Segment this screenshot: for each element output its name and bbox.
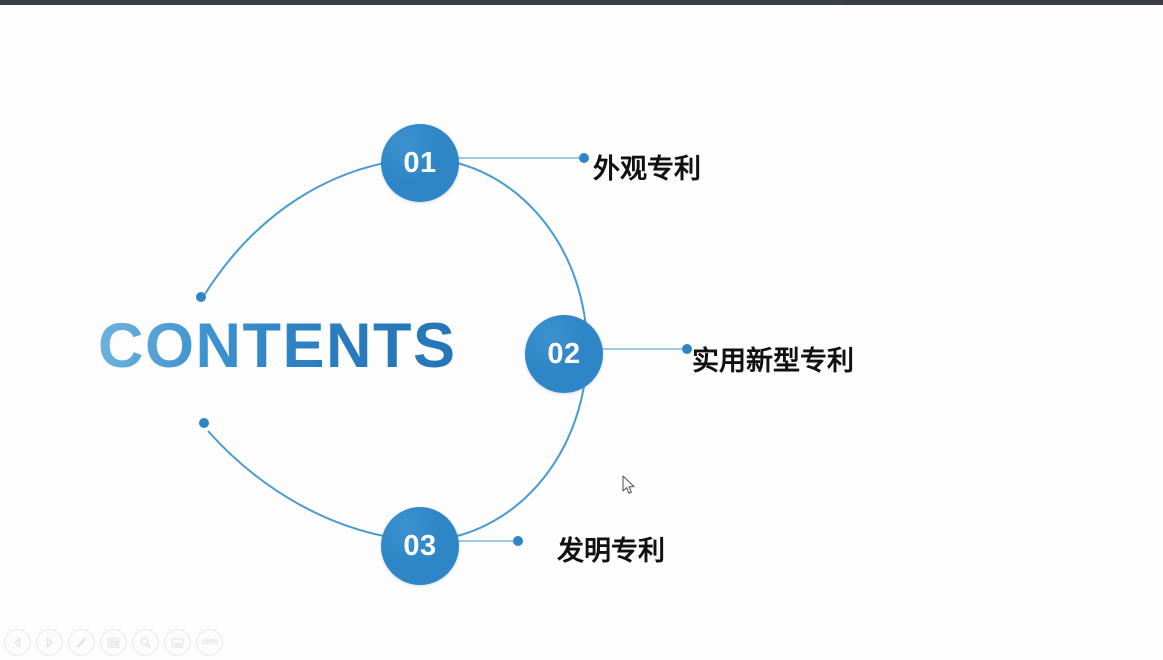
contents-node-02[interactable]: 02 xyxy=(525,315,603,393)
presentation-toolbar[interactable]: 100% xyxy=(4,629,223,656)
zoom-level-indicator[interactable]: 100% xyxy=(196,629,223,656)
contents-node-03[interactable]: 03 xyxy=(381,507,459,585)
ring-endpoint-dot-top xyxy=(196,292,206,302)
next-slide-button[interactable] xyxy=(36,629,63,656)
zoom-level-label: 100% xyxy=(201,639,218,646)
contents-node-01[interactable]: 01 xyxy=(381,124,459,202)
previous-icon xyxy=(12,637,23,648)
slide-layout-button[interactable] xyxy=(100,629,127,656)
presentation-view-button[interactable] xyxy=(164,629,191,656)
page-title: CONTENTS xyxy=(98,315,457,378)
previous-slide-button[interactable] xyxy=(4,629,31,656)
screen: CONTENTS 01 外观专利 02 实用新型专利 03 发明专利 xyxy=(0,0,1163,660)
presentation-icon xyxy=(171,637,184,649)
pen-tool-button[interactable] xyxy=(68,629,95,656)
play-icon xyxy=(44,637,55,648)
contents-node-02-number: 02 xyxy=(547,338,580,371)
connector-dot-03 xyxy=(513,536,523,546)
contents-label-02[interactable]: 实用新型专利 xyxy=(692,339,854,378)
connector-dot-02 xyxy=(682,344,692,354)
slide-layout-icon xyxy=(107,637,120,649)
ring-endpoint-dot-bottom xyxy=(199,418,209,428)
slide-canvas[interactable]: CONTENTS 01 外观专利 02 实用新型专利 03 发明专利 xyxy=(0,5,1163,620)
contents-node-01-number: 01 xyxy=(403,147,436,180)
contents-node-03-number: 03 xyxy=(403,530,436,563)
contents-label-03[interactable]: 发明专利 xyxy=(557,529,665,568)
contents-label-01[interactable]: 外观专利 xyxy=(593,147,701,186)
zoom-button[interactable] xyxy=(132,629,159,656)
connector-dot-01 xyxy=(579,153,589,163)
zoom-icon xyxy=(139,636,152,649)
pen-icon xyxy=(75,636,88,649)
